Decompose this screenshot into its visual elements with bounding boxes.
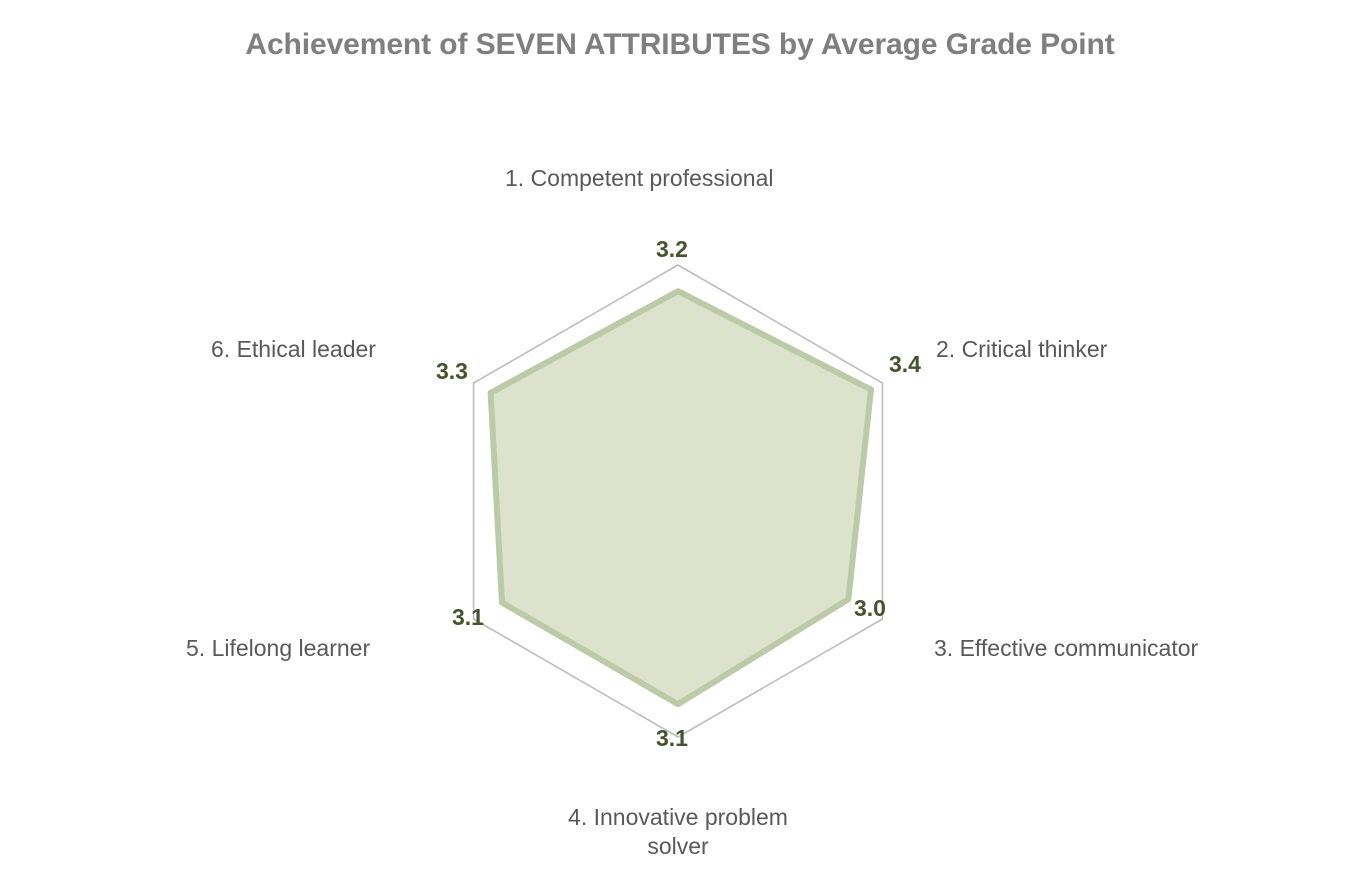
data-polygon-group xyxy=(491,291,871,704)
category-label-4-line1: 4. Innovative problem xyxy=(568,804,788,830)
category-label-6: 6. Ethical leader xyxy=(211,335,376,364)
value-label-1: 3.2 xyxy=(656,236,688,263)
category-label-2: 2. Critical thinker xyxy=(936,335,1107,364)
value-label-4: 3.1 xyxy=(656,725,688,752)
category-label-3: 3. Effective communicator xyxy=(934,634,1198,663)
value-label-5: 3.1 xyxy=(452,604,484,631)
radar-chart-container: Achievement of SEVEN ATTRIBUTES by Avera… xyxy=(0,0,1360,873)
category-label-1: 1. Competent professional xyxy=(505,164,774,193)
category-label-5: 5. Lifelong learner xyxy=(186,634,370,663)
value-label-2: 3.4 xyxy=(889,351,921,378)
category-label-4-line2: solver xyxy=(647,833,708,859)
value-label-6: 3.3 xyxy=(436,358,468,385)
category-label-4: 4. Innovative problemsolver xyxy=(508,803,848,862)
data-series-polygon xyxy=(491,291,871,704)
value-label-3: 3.0 xyxy=(854,595,886,622)
